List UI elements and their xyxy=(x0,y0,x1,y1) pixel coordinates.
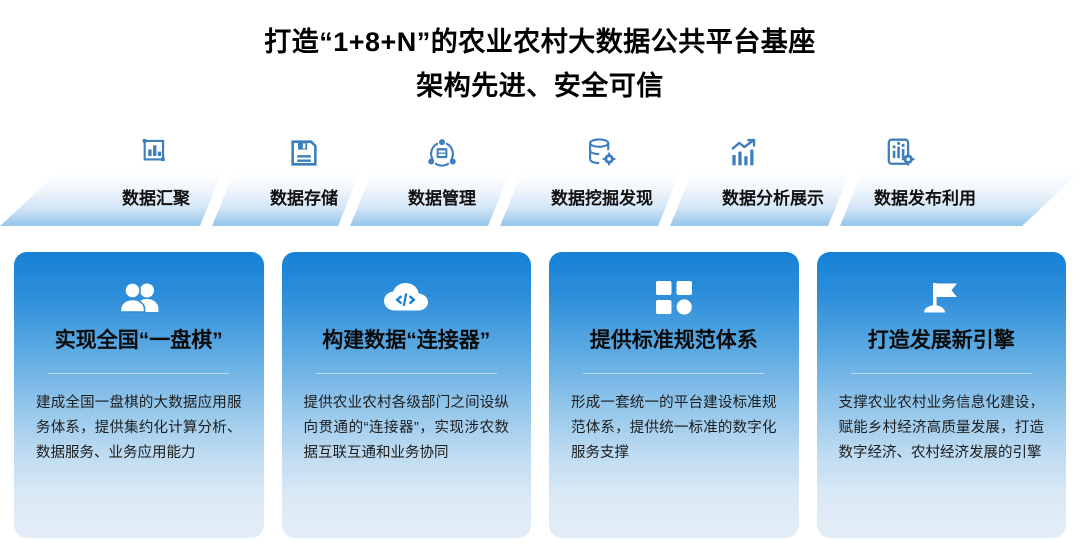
process-step-label-1[interactable]: 数据汇聚 xyxy=(86,172,226,226)
card-divider-1 xyxy=(48,373,229,374)
page-title-line-2: 架构先进、安全可信 xyxy=(0,64,1080,108)
feature-card-list: 实现全国“一盘棋” 建成全国一盘棋的大数据应用服务体系，提供集约化计算分析、数据… xyxy=(14,252,1066,538)
flag-icon xyxy=(918,278,964,318)
page-title: 打造“1+8+N”的农业农村大数据公共平台基座 架构先进、安全可信 xyxy=(0,0,1080,108)
card-divider-3 xyxy=(583,373,764,374)
cloud-code-icon xyxy=(383,278,429,318)
process-step-label-2[interactable]: 数据存储 xyxy=(234,172,374,226)
feature-card-1[interactable]: 实现全国“一盘棋” 建成全国一盘棋的大数据应用服务体系，提供集约化计算分析、数据… xyxy=(14,252,264,538)
node-network-icon xyxy=(425,136,459,170)
card-divider-4 xyxy=(851,373,1032,374)
grid-blocks-icon xyxy=(651,278,697,318)
feature-card-title-2: 构建数据“连接器” xyxy=(304,326,510,356)
people-icon xyxy=(116,278,162,318)
feature-card-2[interactable]: 构建数据“连接器” 提供农业农村各级部门之间设纵向贯通的“连接器”，实现涉农数据… xyxy=(282,252,532,538)
feature-card-body-2: 提供农业农村各级部门之间设纵向贯通的“连接器”，实现涉农数据互联互通和业务协同 xyxy=(304,391,510,466)
page-title-line-1: 打造“1+8+N”的农业农村大数据公共平台基座 xyxy=(0,20,1080,64)
floppy-disk-icon xyxy=(287,136,321,170)
feature-card-title-4: 打造发展新引擎 xyxy=(839,326,1045,356)
process-step-label-5[interactable]: 数据分析展示 xyxy=(693,172,853,226)
feature-card-4[interactable]: 打造发展新引擎 支撑农业农村业务信息化建设，赋能乡村经济高质量发展，打造数字经济… xyxy=(817,252,1067,538)
bar-chart-frame-icon xyxy=(139,136,173,170)
feature-card-title-3: 提供标准规范体系 xyxy=(571,326,777,356)
database-gear-icon xyxy=(585,136,619,170)
feature-card-body-4: 支撑农业农村业务信息化建设，赋能乡村经济高质量发展，打造数字经济、农村经济发展的… xyxy=(839,391,1045,466)
process-band: 数据汇聚 数据存储 数据管理 数据挖掘发现 数据分析展示 数据发布利用 xyxy=(0,136,1080,226)
process-step-label-3[interactable]: 数据管理 xyxy=(372,172,512,226)
trend-chart-icon xyxy=(728,136,762,170)
feature-card-body-3: 形成一套统一的平台建设标准规范体系，提供统一标准的数字化服务支撑 xyxy=(571,391,777,466)
card-divider-2 xyxy=(316,373,497,374)
feature-card-title-1: 实现全国“一盘棋” xyxy=(36,326,242,356)
report-gear-icon xyxy=(884,136,918,170)
process-step-label-4[interactable]: 数据挖掘发现 xyxy=(522,172,682,226)
feature-card-body-1: 建成全国一盘棋的大数据应用服务体系，提供集约化计算分析、数据服务、业务应用能力 xyxy=(36,391,242,466)
process-step-label-6[interactable]: 数据发布利用 xyxy=(845,172,1005,226)
feature-card-3[interactable]: 提供标准规范体系 形成一套统一的平台建设标准规范体系，提供统一标准的数字化服务支… xyxy=(549,252,799,538)
